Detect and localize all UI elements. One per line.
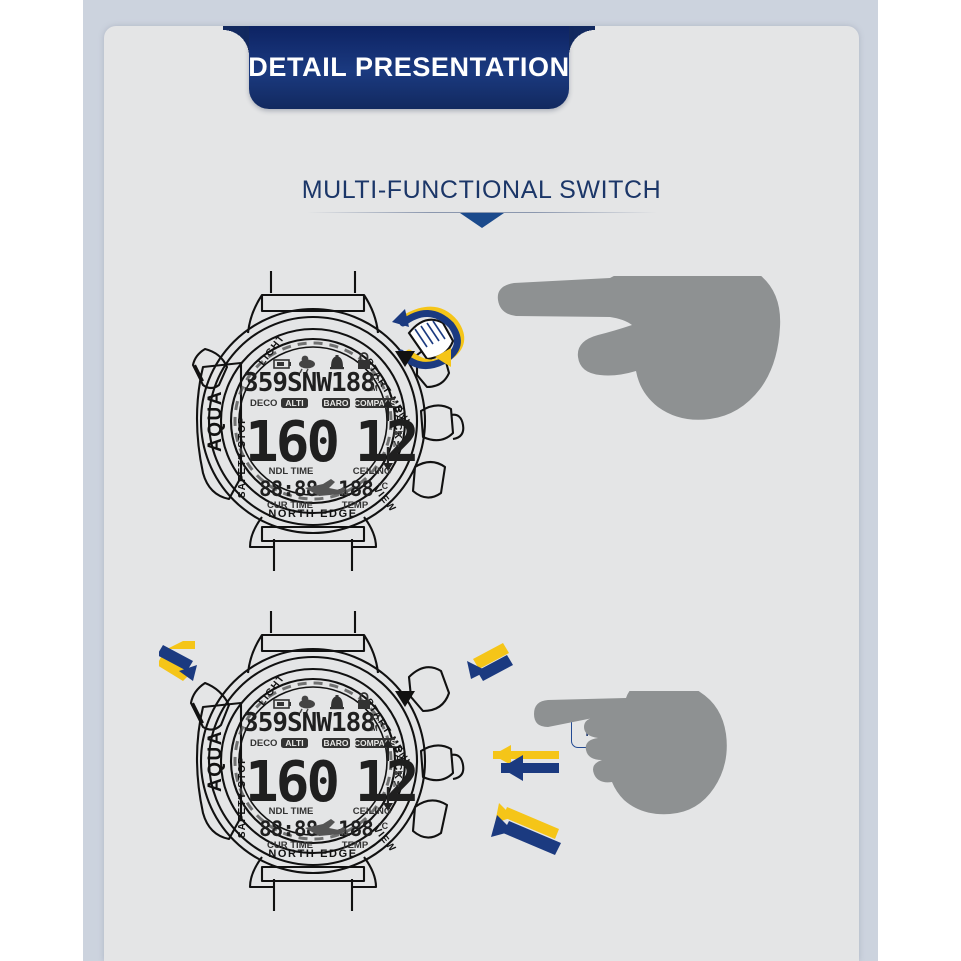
svg-text:NO: NO [339,491,348,497]
lcd-main-unit-ft-2: FT [393,770,403,779]
svg-text:BARO: BARO [323,398,348,408]
lcd-top-unit-ft-1: FT [371,374,381,383]
lcd-label-ceiling-2: CEILING [353,806,392,817]
section-title: MULTI-FUNCTIONAL SWITCH [104,176,859,205]
lcd-label-temp-1: TEMP [342,500,369,511]
lcd-mode-baro-1: BARO [322,398,350,408]
watch-line-art-2: AQUA LIGHT SAFETY STOP START MENU BACK V… [159,611,579,911]
lcd-main-unit-ft-1: FT [393,430,403,439]
lcd-top-unit-m-1: M [371,384,378,393]
lcd-mode-deco-2: DECO [250,738,277,749]
lcd-mode-deco-1: DECO [250,398,277,409]
lcd-main-unit-m-1: M [393,440,400,449]
detail-card: DETAIL PRESENTATION MULTI-FUNCTIONAL SWI… [104,26,859,961]
lcd-label-ndl-2: NDL TIME [269,806,314,817]
lcd-top-unit-ft-2: FT [371,714,381,723]
svg-text:ALTI: ALTI [285,398,303,408]
svg-text:ALTI: ALTI [285,738,303,748]
product-detail-page: DETAIL PRESENTATION MULTI-FUNCTIONAL SWI… [0,0,961,961]
lcd-label-ceiling-1: CEILING [353,466,392,477]
lcd-label-ndl-1: NDL TIME [269,466,314,477]
lcd-sub-unit-2: °C [378,821,389,831]
battery-icon [274,700,291,708]
svg-text:BARO: BARO [323,738,348,748]
lcd-top-row-2: 359SNW188 [243,708,375,738]
battery-icon [274,360,291,368]
lcd-label-curtime-2: CUR TIME [267,840,313,851]
header-banner: DETAIL PRESENTATION [249,26,569,109]
pointing-hand-press-icon [534,691,784,871]
section-header: MULTI-FUNCTIONAL SWITCH [104,176,859,228]
press-arrow-top-left [159,641,197,681]
banner-flare-left [223,26,249,56]
lcd-sub-unit-1: °C [378,481,389,491]
lcd-mode-alti-1: ALTI [281,398,308,408]
lcd-mode-baro-2: BARO [322,738,350,748]
lock-icon [358,353,370,369]
watch-brand-side-1: AQUA [205,390,226,452]
watch-brand-side-2: AQUA [205,730,226,792]
lcd-label-curtime-1: CUR TIME [267,500,313,511]
lcd-main-unit-m-2: M [393,780,400,789]
lcd-top-row-1: 359SNW188 [243,368,375,398]
banner-title: DETAIL PRESENTATION [248,52,569,83]
lock-icon [358,693,370,709]
lcd-label-temp-2: TEMP [342,840,369,851]
banner-flare-right [569,26,595,56]
pointing-hand-rotatable-icon [494,276,784,506]
lcd-mode-alti-2: ALTI [281,738,308,748]
watch-illustration-press: AQUA LIGHT SAFETY STOP START MENU BACK V… [104,606,859,906]
press-arrow-top-right [467,643,513,681]
section-triangle-icon [460,213,504,228]
svg-text:NO: NO [339,831,348,837]
watch-illustration-rotatable: AQUA LIGHT SAFETY STOP START MENU BACK V… [104,271,859,571]
lcd-top-unit-m-2: M [371,724,378,733]
